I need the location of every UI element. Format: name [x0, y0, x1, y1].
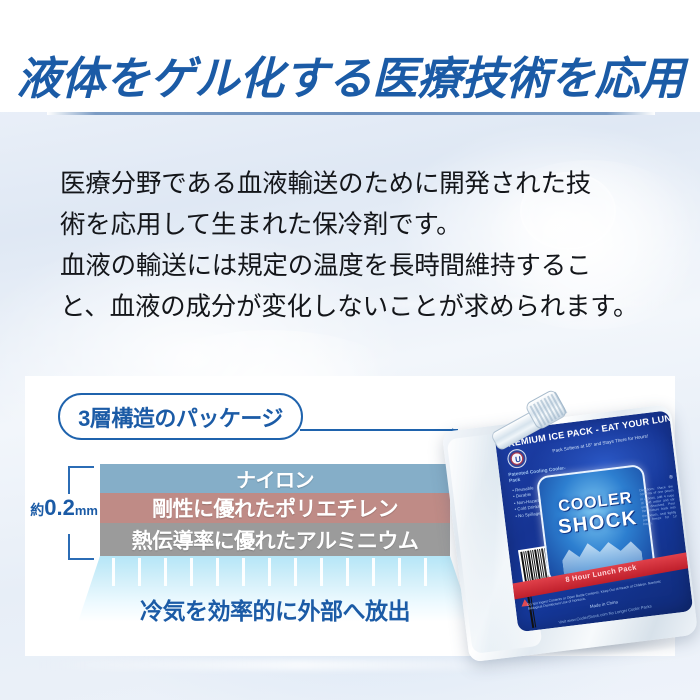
cold-air-tick — [294, 558, 297, 586]
layer-stack: ナイロン 剛性に優れたポリエチレン 熱伝導率に優れたアルミニウム — [100, 464, 450, 556]
body-copy: 医療分野である血液輸送のために開発された技 術を応用して生まれた保冷剤です。 血… — [60, 164, 660, 328]
infographic-page: 液体をゲル化する医療技術を応用 医療分野である血液輸送のために開発された技 術を… — [0, 0, 700, 700]
cold-air-tick — [320, 558, 323, 586]
package-structure-callout-label: 3層構造のパッケージ — [78, 401, 283, 433]
package-directions-text: Directions: Place the contents of one po… — [639, 484, 677, 527]
cold-air-tick — [164, 558, 167, 586]
title-divider — [47, 112, 655, 115]
product-package: PREMIUM ICE PACK - EAT YOUR LUNCH! Pack … — [439, 384, 700, 682]
cold-air-tick — [112, 558, 115, 586]
cold-air-tick — [268, 558, 271, 586]
layer-nylon: ナイロン — [100, 464, 450, 493]
thickness-unit: mm — [75, 503, 98, 518]
callout-leader-horizontal — [300, 429, 458, 431]
layer-polyethylene: 剛性に優れたポリエチレン — [100, 493, 450, 523]
cold-air-tick — [216, 558, 219, 586]
thickness-label: 約0.2mm — [12, 497, 98, 519]
cold-air-tick — [190, 558, 193, 586]
cold-air-tick — [346, 558, 349, 586]
cold-air-tick — [372, 558, 375, 586]
thickness-value: 0.2 — [44, 495, 75, 520]
body-line-3: 血液の輸送には規定の温度を長時間維持するこ — [60, 246, 660, 287]
package-structure-callout: 3層構造のパッケージ — [58, 393, 303, 440]
thickness-prefix: 約 — [30, 502, 44, 518]
cold-air-tick — [398, 558, 401, 586]
cold-air-tick — [138, 558, 141, 586]
body-line-1: 医療分野である血液輸送のために開発された技 — [60, 164, 660, 205]
page-title: 液体をゲル化する医療技術を応用 — [0, 42, 700, 107]
layer-aluminium: 熱伝導率に優れたアルミニウム — [100, 523, 450, 556]
registered-trademark-icon: ® — [669, 474, 673, 480]
body-line-2: 術を応用して生まれた保冷剤です。 — [60, 205, 660, 246]
cold-air-release-label: 冷気を効率的に外部へ放出 — [78, 592, 472, 626]
cold-air-tick — [424, 558, 427, 586]
cold-air-tick — [242, 558, 245, 586]
body-line-4: と、血液の成分が変化しないことが求められます。 — [60, 287, 660, 328]
